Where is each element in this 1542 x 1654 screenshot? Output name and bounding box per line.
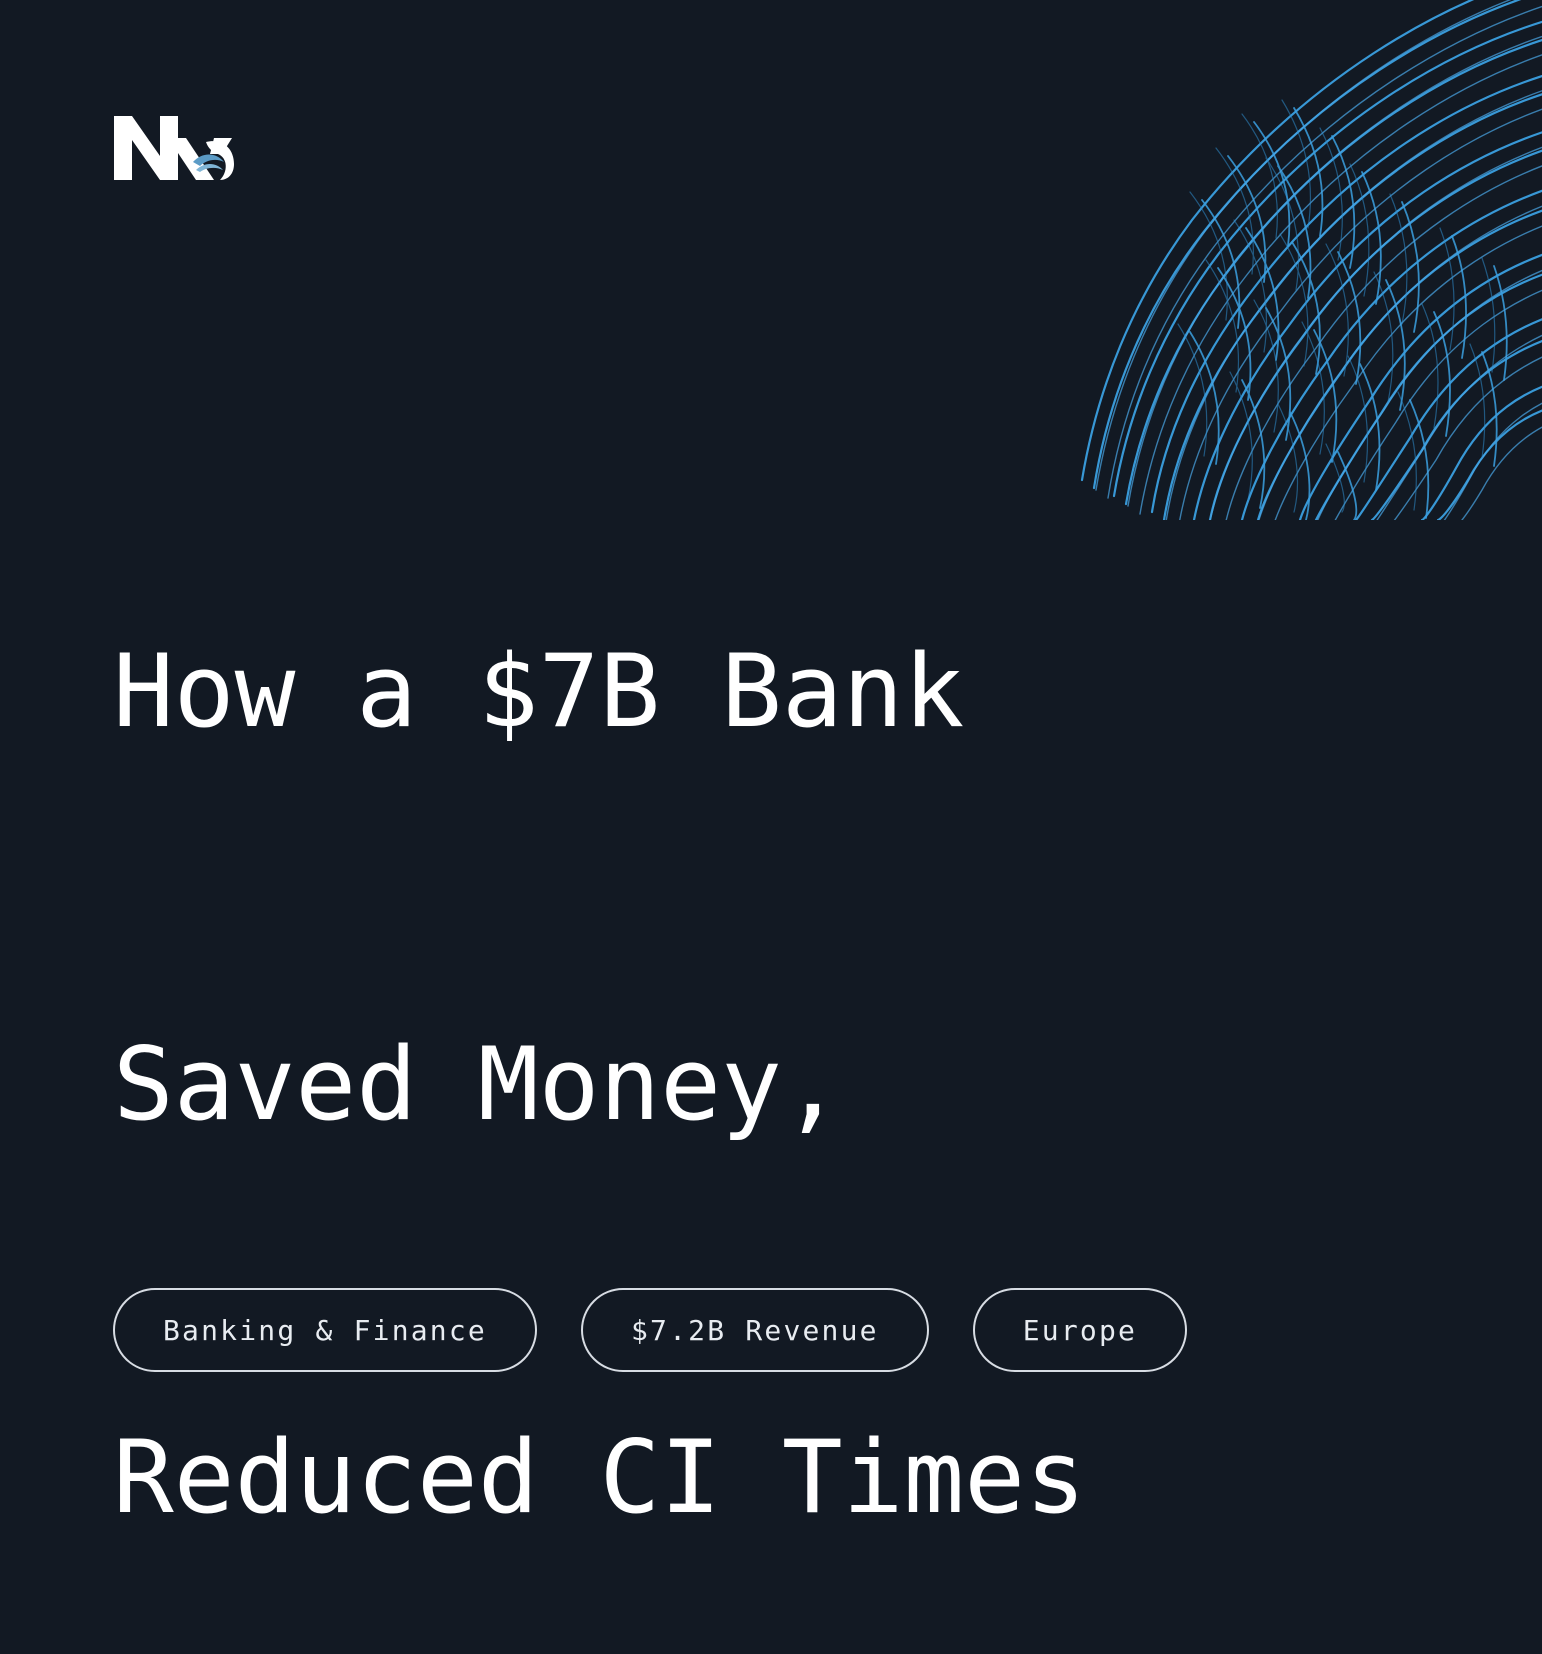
headline-line-1: How a $7B Bank <box>113 626 1443 757</box>
headline-line-3: Reduced CI Times <box>113 1412 1443 1543</box>
pill-region[interactable]: Europe <box>973 1288 1187 1372</box>
pill-industry[interactable]: Banking & Finance <box>113 1288 537 1372</box>
page-title: How a $7B Bank Saved Money, Reduced CI T… <box>113 364 1443 1654</box>
case-study-card: How a $7B Bank Saved Money, Reduced CI T… <box>0 0 1542 1654</box>
nx-logo <box>110 112 238 184</box>
pill-revenue[interactable]: $7.2B Revenue <box>581 1288 929 1372</box>
headline-line-2: Saved Money, <box>113 1019 1443 1150</box>
metadata-pill-row: Banking & Finance $7.2B Revenue Europe <box>113 1288 1187 1372</box>
